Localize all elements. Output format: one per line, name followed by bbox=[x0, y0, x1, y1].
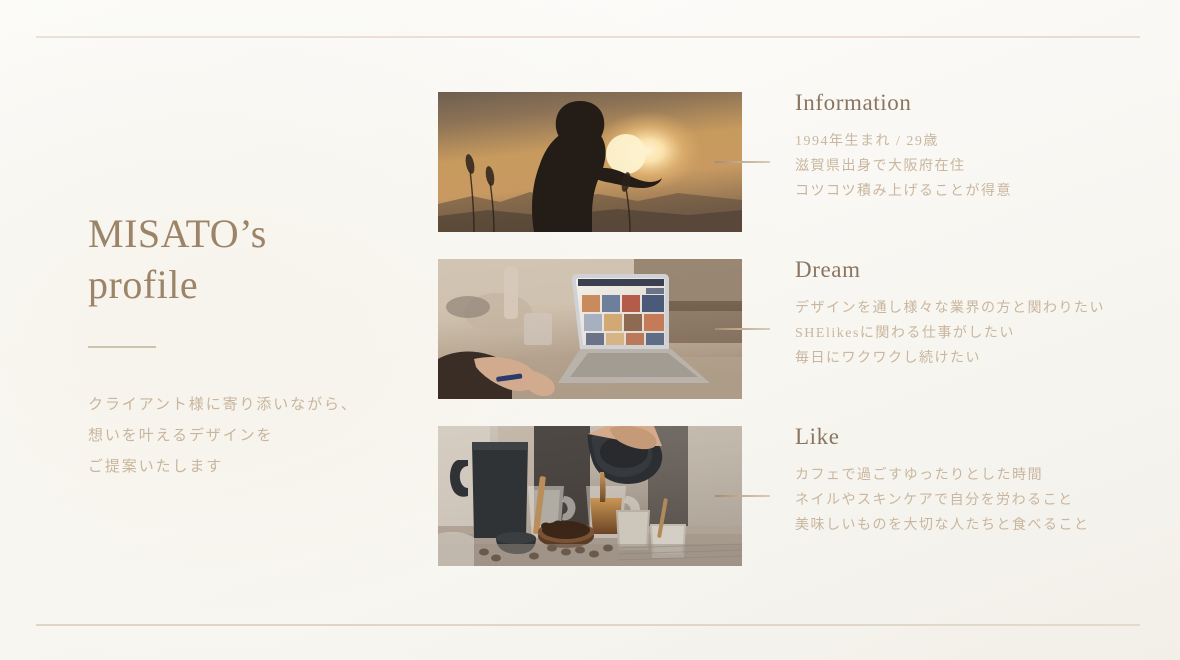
profile-section-information: Information 1994年生まれ / 29歳 滋賀県出身で大阪府在住 コ… bbox=[438, 92, 1138, 238]
section-line: SHElikesに関わる仕事がしたい bbox=[795, 322, 1140, 347]
page-title-line-1: MISATO’s bbox=[88, 211, 267, 256]
section-body: カフェで過ごすゆったりとした時間 ネイルやスキンケアで自分を労わること 美味しい… bbox=[795, 464, 1140, 539]
bottom-divider-rule bbox=[36, 624, 1140, 626]
section-line: 美味しいものを大切な人たちと食べること bbox=[795, 514, 1140, 539]
photo-sunset-silhouette bbox=[438, 92, 742, 232]
profile-section-like: Like カフェで過ごすゆったりとした時間 ネイルやスキンケアで自分を労わること… bbox=[438, 426, 1138, 572]
section-text-information: Information 1994年生まれ / 29歳 滋賀県出身で大阪府在住 コ… bbox=[795, 91, 1140, 205]
section-text-like: Like カフェで過ごすゆったりとした時間 ネイルやスキンケアで自分を労わること… bbox=[795, 425, 1140, 539]
title-divider bbox=[88, 346, 156, 348]
page-title: MISATO’s profile bbox=[88, 208, 408, 310]
profile-lead-line: 想いを叶えるデザインを bbox=[88, 421, 408, 452]
section-line: 滋賀県出身で大阪府在住 bbox=[795, 155, 1140, 180]
profile-lead-text: クライアント様に寄り添いながら、 想いを叶えるデザインを ご提案いたします bbox=[88, 390, 408, 482]
photo-laptop-workspace bbox=[438, 259, 742, 399]
section-heading: Like bbox=[795, 425, 1140, 448]
section-heading: Dream bbox=[795, 258, 1140, 281]
section-line: ネイルやスキンケアで自分を労わること bbox=[795, 489, 1140, 514]
section-text-dream: Dream デザインを通し様々な業界の方と関わりたい SHElikesに関わる仕… bbox=[795, 258, 1140, 372]
section-heading: Information bbox=[795, 91, 1140, 114]
section-body: デザインを通し様々な業界の方と関わりたい SHElikesに関わる仕事がしたい … bbox=[795, 297, 1140, 372]
connector-line bbox=[715, 495, 770, 497]
profile-section-dream: Dream デザインを通し様々な業界の方と関わりたい SHElikesに関わる仕… bbox=[438, 259, 1138, 405]
page-title-line-2: profile bbox=[88, 262, 198, 307]
profile-lead-line: クライアント様に寄り添いながら、 bbox=[88, 390, 408, 421]
section-line: デザインを通し様々な業界の方と関わりたい bbox=[795, 297, 1140, 322]
profile-lead-line: ご提案いたします bbox=[88, 452, 408, 483]
photo-coffee-pour bbox=[438, 426, 742, 566]
section-line: コツコツ積み上げることが得意 bbox=[795, 180, 1140, 205]
section-line: カフェで過ごすゆったりとした時間 bbox=[795, 464, 1140, 489]
profile-intro-column: MISATO’s profile クライアント様に寄り添いながら、 想いを叶える… bbox=[88, 208, 408, 483]
section-line: 毎日にワクワクし続けたい bbox=[795, 347, 1140, 372]
connector-line bbox=[715, 161, 770, 163]
section-body: 1994年生まれ / 29歳 滋賀県出身で大阪府在住 コツコツ積み上げることが得… bbox=[795, 130, 1140, 205]
section-line: 1994年生まれ / 29歳 bbox=[795, 130, 1140, 155]
connector-line bbox=[715, 328, 770, 330]
top-divider-rule bbox=[36, 36, 1140, 38]
